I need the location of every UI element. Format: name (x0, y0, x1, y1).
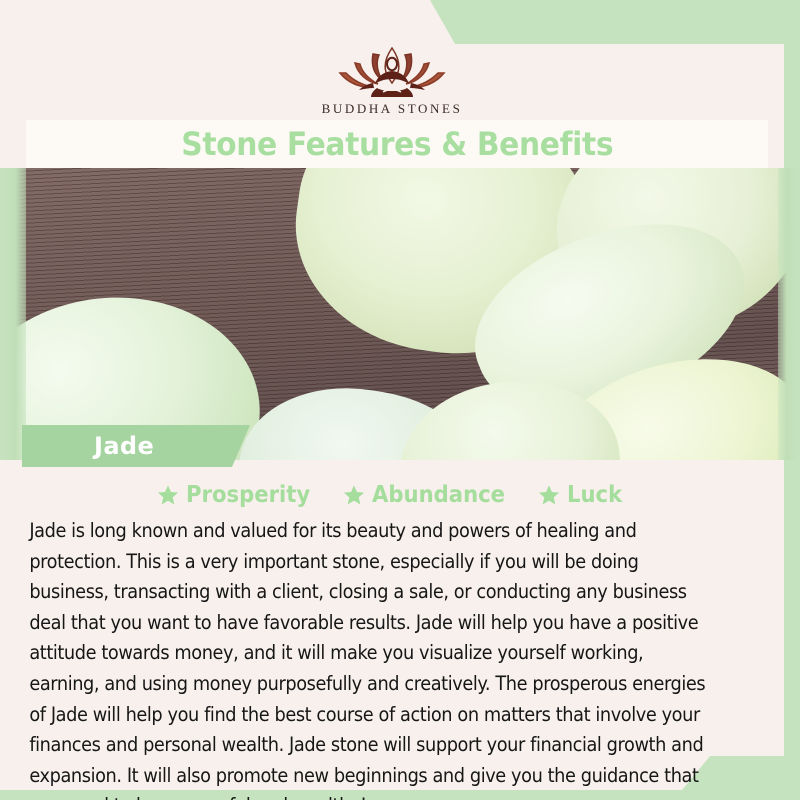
photo-left-accent (0, 168, 26, 460)
title-banner: Stone Features & Benefits (26, 120, 768, 168)
lotus-meditation-icon (333, 44, 451, 99)
star-icon (157, 484, 179, 506)
stone-name-band: Jade (22, 425, 250, 467)
benefit-label: Luck (567, 482, 622, 508)
star-icon (538, 484, 560, 506)
stone-name-label: Jade (94, 432, 154, 460)
benefit-item-abundance: Abundance (343, 482, 517, 508)
brand-logo: BUDDHA STONES (0, 44, 784, 118)
benefits-row: Prosperity Abundance Luck (0, 478, 784, 512)
brand-name: BUDDHA STONES (322, 101, 463, 117)
benefit-item-prosperity: Prosperity (157, 482, 321, 508)
photo-right-accent (778, 168, 800, 460)
stone-photo (0, 168, 800, 460)
benefit-label: Abundance (372, 482, 505, 508)
page-title: Stone Features & Benefits (181, 125, 613, 163)
benefit-label: Prosperity (186, 482, 310, 508)
benefit-item-luck: Luck (538, 482, 627, 508)
jade-stone-infographic: BUDDHA STONES Stone Features & Benefits … (0, 0, 800, 800)
stone-description: Jade is long known and valued for its be… (22, 512, 719, 800)
star-icon (343, 484, 365, 506)
